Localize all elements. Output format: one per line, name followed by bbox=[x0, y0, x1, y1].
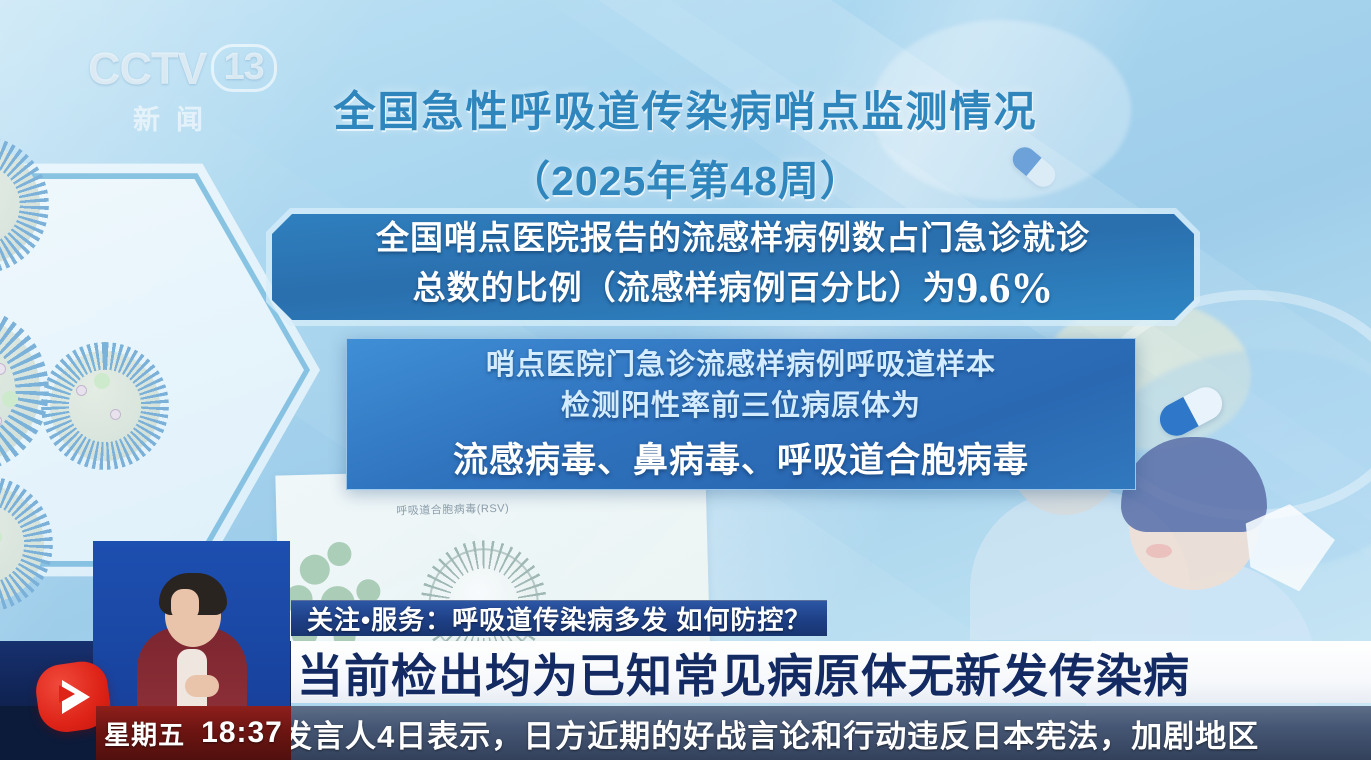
interpreter-hand bbox=[185, 675, 219, 697]
weekday-label: 星期五 bbox=[104, 715, 185, 752]
virus-cell-icon bbox=[0, 485, 44, 603]
ili-panel-line-2-prefix: 总数的比例（流感样病例百分比）为 bbox=[413, 269, 957, 306]
time-label: 18:37 bbox=[201, 716, 283, 750]
ili-panel-line-1: 全国哨点医院报告的流感样病例数占门急诊就诊 bbox=[376, 216, 1090, 261]
news-ticker: 发言人4日表示，日方近期的好战言论和行动违反日本宪法，加剧地区 bbox=[291, 706, 1371, 760]
pathogens-panel-sub-line-2: 检测阳性率前三位病原体为 bbox=[561, 386, 921, 426]
hexagon-virus-illustration bbox=[0, 155, 320, 585]
top-pathogens-panel: 哨点医院门急诊流感样病例呼吸道样本 检测阳性率前三位病原体为 流感病毒、鼻病毒、… bbox=[346, 338, 1136, 490]
page-title: 全国急性呼吸道传染病哨点监测情况 （2025年第48周） bbox=[0, 78, 1371, 207]
clock-bar: 星期五 18:37 bbox=[96, 706, 291, 760]
sign-language-interpreter-inset bbox=[93, 541, 290, 719]
title-line-2: （2025年第48周） bbox=[0, 147, 1371, 207]
ticker-text: 发言人4日表示，日方近期的好战言论和行动违反日本宪法，加剧地区 bbox=[291, 711, 1259, 756]
background-blob bbox=[1101, 350, 1371, 570]
capsule-pill-icon bbox=[1154, 381, 1228, 441]
headline-bar: 当前检出均为已知常见病原体无新发传染病 bbox=[291, 641, 1371, 703]
pathogens-panel-sub-line-1: 哨点医院门急诊流感样病例呼吸道样本 bbox=[486, 345, 996, 385]
play-triangle-notch bbox=[59, 685, 75, 703]
interpreter-hand bbox=[171, 589, 199, 621]
virus-cell-icon bbox=[0, 315, 40, 465]
headline-text: 当前检出均为已知常见病原体无新发传染病 bbox=[297, 641, 1190, 703]
topic-bar: 关注•服务：呼吸道传染病多发 如何防控？ bbox=[291, 600, 827, 636]
virus-cell-icon bbox=[50, 351, 160, 461]
topic-text: 关注•服务：呼吸道传染病多发 如何防控？ bbox=[307, 600, 811, 637]
pathogens-list: 流感病毒、鼻病毒、呼吸道合胞病毒 bbox=[453, 432, 1029, 483]
ili-panel-line-2: 总数的比例（流感样病例百分比）为9.6% bbox=[413, 260, 1054, 318]
broadcast-screen: 呼吸道合胞病毒(RSV) bbox=[0, 0, 1371, 760]
title-line-1: 全国急性呼吸道传染病哨点监测情况 bbox=[0, 78, 1371, 139]
rsv-diagram-label: 呼吸道合胞病毒(RSV) bbox=[396, 500, 509, 519]
ili-percentage-panel: 全国哨点医院报告的流感样病例数占门急诊就诊 总数的比例（流感样病例百分比）为9.… bbox=[272, 214, 1194, 320]
ili-percentage-value: 9.6% bbox=[957, 265, 1054, 312]
